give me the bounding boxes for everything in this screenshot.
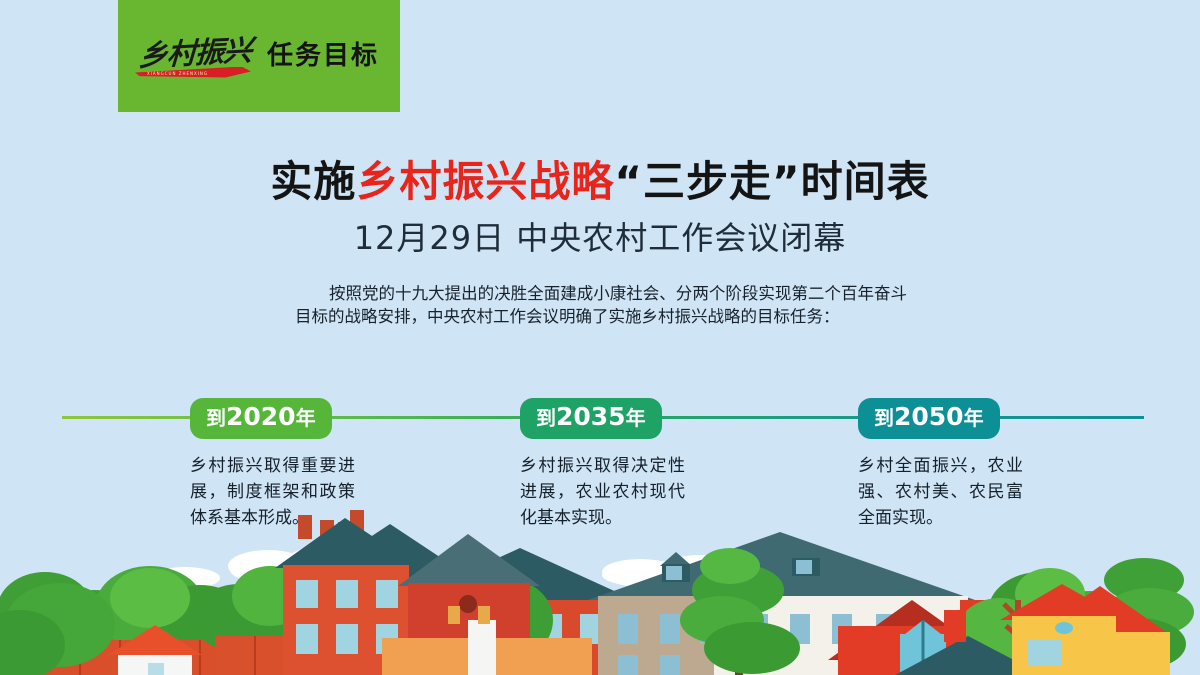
milestone-2050: 到2050年 乡村全面振兴，农业强、农村美、农民富全面实现。: [858, 398, 1048, 531]
tree-cluster-hedge: [192, 566, 375, 654]
badge-suffix: 年: [964, 406, 984, 430]
badge-prefix: 到: [874, 406, 894, 430]
badge-year: 2035: [556, 402, 626, 431]
house-red-center: [398, 534, 540, 675]
badge-prefix: 到: [536, 406, 556, 430]
badge-suffix: 年: [626, 406, 646, 430]
cloud-group: [150, 545, 742, 589]
brick-wall-center: [215, 636, 415, 675]
tree-cluster-left: [0, 572, 188, 656]
logo-main-text: 乡村振兴: [138, 36, 252, 71]
badge-year: 2020: [226, 402, 296, 431]
tree-pine-center: [680, 548, 800, 675]
badge-suffix: 年: [296, 406, 316, 430]
title-highlight: 乡村振兴战略: [356, 157, 614, 206]
chimney-white: [468, 620, 496, 675]
logo-swoosh-label: XIANGCUN ZHENXING: [147, 71, 208, 76]
house-small-white: [108, 625, 202, 675]
logo-brushmark: 乡村振兴 XIANGCUN ZHENXING: [139, 39, 251, 68]
page-subtitle: 12月29日 中央农村工作会议闭幕: [0, 213, 1200, 259]
milestone-text-2020: 乡村振兴取得重要进展，制度框架和政策体系基本形成。: [190, 453, 355, 531]
tree-pine-right: [1090, 558, 1194, 675]
house-red-gable-right: [828, 600, 1060, 675]
milestone-2020: 到2020年 乡村振兴取得重要进展，制度框架和政策体系基本形成。: [190, 398, 380, 531]
milestone-2035: 到2035年 乡村振兴取得决定性进展，农业农村现代化基本实现。: [520, 398, 710, 531]
logo-banner: 乡村振兴 XIANGCUN ZHENXING 任务目标: [118, 0, 400, 112]
tree-cluster-right: [958, 568, 1135, 662]
house-teal-right-bottom: [882, 610, 1056, 675]
infographic-poster: 乡村振兴 XIANGCUN ZHENXING 任务目标 实施乡村振兴战略“三步走…: [0, 0, 1200, 675]
house-yellow-midright: [1000, 584, 1126, 675]
milestone-badge-2035[interactable]: 到2035年: [520, 398, 662, 439]
house-beige-apartment: [588, 532, 975, 675]
tree-left-overlap: [0, 583, 115, 675]
house-yellow-right: [1030, 586, 1172, 675]
badge-year: 2050: [894, 402, 964, 431]
milestone-badge-2050[interactable]: 到2050年: [858, 398, 1000, 439]
tree-cluster-center: [95, 566, 248, 655]
logo-subtitle: 任务目标: [267, 35, 379, 72]
badge-prefix: 到: [206, 406, 226, 430]
house-orange-large: [395, 548, 645, 675]
wall-orange: [382, 638, 592, 675]
tree-bare-right: [1004, 600, 1032, 660]
brick-wall: [0, 640, 230, 675]
title-suffix: “三步走”时间表: [614, 157, 929, 206]
intro-paragraph: 按照党的十九大提出的决胜全面建成小康社会、分两个阶段实现第二个百年奋斗目标的战略…: [295, 282, 907, 328]
milestone-text-2035: 乡村振兴取得决定性进展，农业农村现代化基本实现。: [520, 453, 685, 531]
milestone-badge-2020[interactable]: 到2020年: [190, 398, 332, 439]
tree-round-center: [440, 578, 553, 675]
house-brick-tall: [275, 510, 420, 675]
house-yellow-teal-roof: [298, 522, 482, 675]
title-prefix: 实施: [270, 157, 356, 206]
page-title: 实施乡村振兴战略“三步走”时间表: [0, 148, 1200, 209]
milestone-text-2050: 乡村全面振兴，农业强、农村美、农民富全面实现。: [858, 453, 1023, 531]
